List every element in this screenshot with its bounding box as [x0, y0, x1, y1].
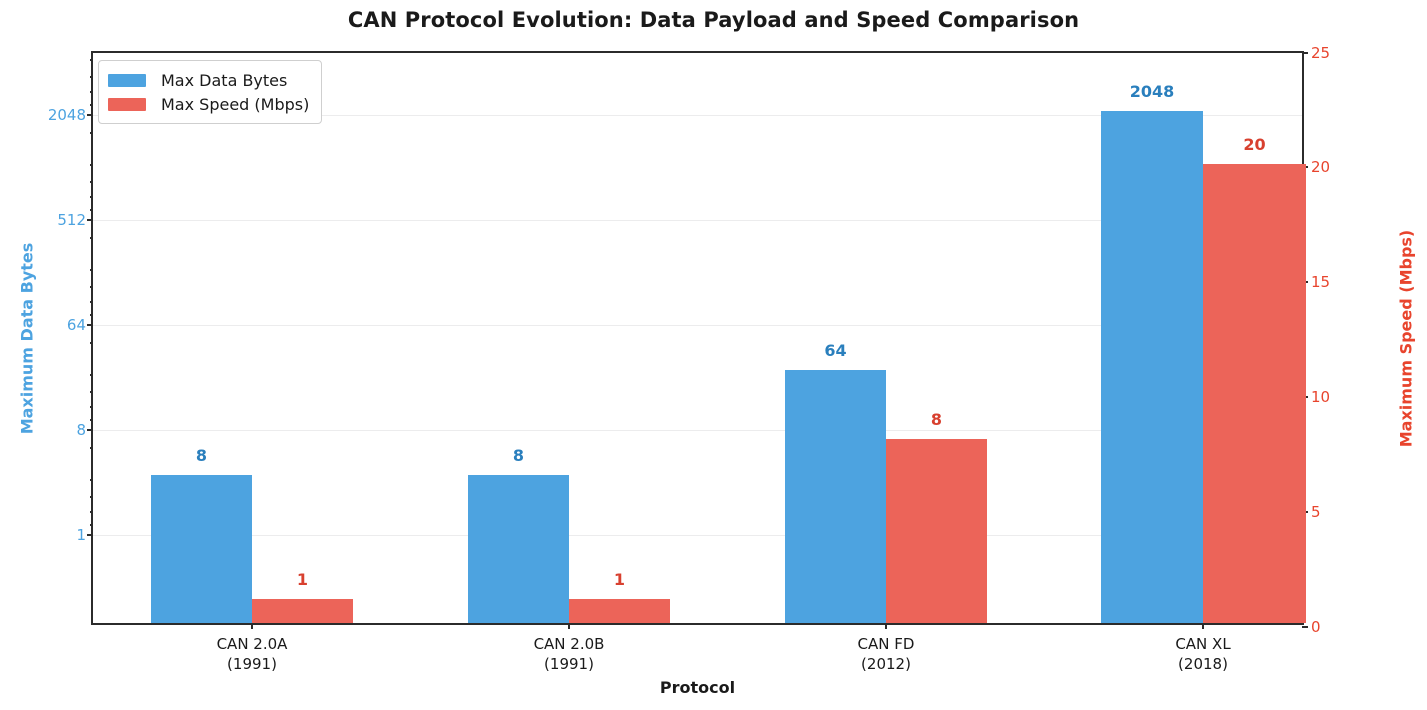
legend-label-max-data-bytes: Max Data Bytes [161, 71, 287, 90]
left-minor-tick [90, 59, 94, 61]
bar-value-label-data-1: 8 [468, 446, 569, 465]
left-tick-label-512: 512 [57, 211, 86, 229]
left-minor-tick [90, 419, 94, 421]
xtick-mark-0 [251, 623, 253, 629]
xtick-mark-2 [885, 623, 887, 629]
xtick-name-0: CAN 2.0A [217, 634, 288, 654]
left-minor-tick [90, 237, 94, 239]
bar-value-label-speed-2: 8 [886, 410, 987, 429]
bar-max-speed-0[interactable] [252, 599, 353, 623]
xtick-mark-1 [568, 623, 570, 629]
left-minor-tick [90, 76, 94, 78]
bar-max-speed-2[interactable] [886, 439, 987, 623]
xtick-year-2: (2012) [858, 654, 915, 674]
bar-max-data-bytes-2[interactable] [785, 370, 886, 623]
left-minor-tick [90, 209, 94, 211]
left-minor-tick [90, 164, 94, 166]
left-tick-label-8: 8 [76, 421, 86, 439]
x-axis-title: Protocol [91, 678, 1304, 697]
bar-value-label-speed-0: 1 [252, 570, 353, 589]
bar-value-label-data-2: 64 [785, 341, 886, 360]
left-minor-tick [90, 196, 94, 198]
left-minor-tick [90, 104, 94, 106]
left-tick-mark-512 [87, 219, 93, 221]
left-minor-tick [90, 391, 94, 393]
left-minor-tick [90, 181, 94, 183]
right-tick-label-25: 25 [1311, 44, 1330, 62]
xtick-mark-3 [1202, 623, 1204, 629]
left-minor-tick [90, 447, 94, 449]
right-tick-mark-0 [1302, 626, 1308, 628]
right-tick-label-20: 20 [1311, 158, 1330, 176]
legend-swatch-blue-icon [108, 74, 146, 87]
legend-item-max-data-bytes[interactable]: Max Data Bytes [108, 68, 309, 92]
plot-area: 2048 512 64 8 1 25 [91, 51, 1304, 625]
xtick-name-2: CAN FD [858, 634, 915, 654]
right-tick-label-15: 15 [1311, 273, 1330, 291]
left-minor-tick [90, 511, 94, 513]
right-axis-title: Maximum Speed (Mbps) [1393, 51, 1419, 625]
left-tick-label-2048: 2048 [48, 106, 86, 124]
left-minor-tick [90, 524, 94, 526]
left-tick-label-1: 1 [76, 526, 86, 544]
left-minor-tick [90, 91, 94, 93]
bar-value-label-data-3: 2048 [1101, 82, 1203, 101]
left-minor-tick [90, 374, 94, 376]
bar-max-data-bytes-3[interactable] [1101, 111, 1203, 623]
xtick-label-0: CAN 2.0A (1991) [217, 634, 288, 675]
left-minor-tick [90, 314, 94, 316]
right-tick-mark-25 [1302, 52, 1308, 54]
chart-title: CAN Protocol Evolution: Data Payload and… [0, 8, 1427, 32]
left-tick-label-64: 64 [67, 316, 86, 334]
chart-legend: Max Data Bytes Max Speed (Mbps) [98, 60, 322, 124]
xtick-label-2: CAN FD (2012) [858, 634, 915, 675]
chart-figure: CAN Protocol Evolution: Data Payload and… [0, 0, 1427, 710]
left-axis-title-text: Maximum Data Bytes [18, 242, 37, 434]
bar-max-speed-3[interactable] [1203, 164, 1306, 623]
left-minor-tick [90, 496, 94, 498]
left-minor-tick [90, 406, 94, 408]
legend-swatch-red-icon [108, 98, 146, 111]
xtick-year-1: (1991) [534, 654, 605, 674]
xtick-name-1: CAN 2.0B [534, 634, 605, 654]
left-tick-mark-8 [87, 429, 93, 431]
bar-value-label-data-0: 8 [151, 446, 252, 465]
legend-label-max-speed: Max Speed (Mbps) [161, 95, 309, 114]
xtick-label-3: CAN XL (2018) [1175, 634, 1230, 675]
bar-max-data-bytes-1[interactable] [468, 475, 569, 623]
right-tick-label-5: 5 [1311, 503, 1321, 521]
right-axis-title-text: Maximum Speed (Mbps) [1397, 229, 1416, 447]
left-minor-tick [90, 286, 94, 288]
left-minor-tick [90, 342, 94, 344]
left-minor-tick [90, 132, 94, 134]
xtick-name-3: CAN XL [1175, 634, 1230, 654]
left-minor-tick [90, 269, 94, 271]
bar-value-label-speed-3: 20 [1203, 135, 1306, 154]
left-minor-tick [90, 479, 94, 481]
bar-value-label-speed-1: 1 [569, 570, 670, 589]
right-tick-label-0: 0 [1311, 618, 1321, 636]
bar-max-data-bytes-0[interactable] [151, 475, 252, 623]
legend-item-max-speed[interactable]: Max Speed (Mbps) [108, 92, 309, 116]
left-axis-title: Maximum Data Bytes [14, 51, 40, 625]
left-tick-mark-2048 [87, 114, 93, 116]
left-minor-tick [90, 301, 94, 303]
xtick-label-1: CAN 2.0B (1991) [534, 634, 605, 675]
bar-max-speed-1[interactable] [569, 599, 670, 623]
right-tick-label-10: 10 [1311, 388, 1330, 406]
xtick-year-3: (2018) [1175, 654, 1230, 674]
left-tick-mark-64 [87, 324, 93, 326]
xtick-year-0: (1991) [217, 654, 288, 674]
left-tick-mark-1 [87, 534, 93, 536]
